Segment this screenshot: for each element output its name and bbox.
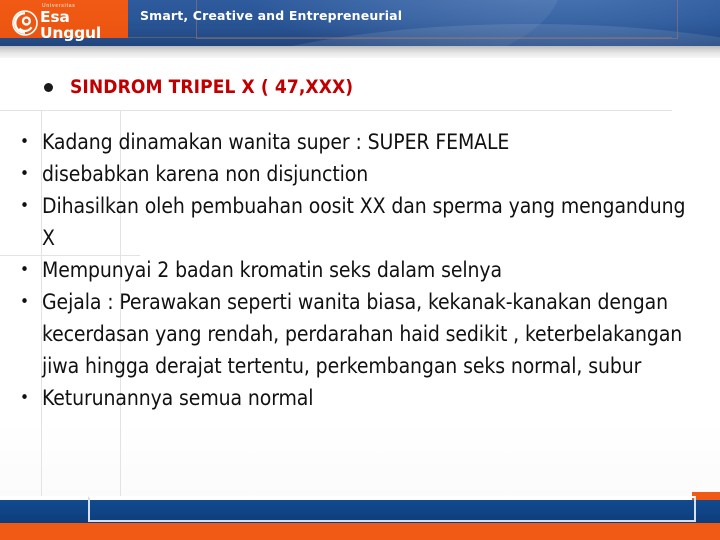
header-tagline: Smart, Creative and Entrepreneurial	[140, 8, 402, 23]
esa-unggul-logo-icon	[12, 10, 38, 36]
list-item-text: Kadang dinamakan wanita super : SUPER FE…	[42, 126, 696, 158]
bullet-glyph-icon: •	[20, 382, 42, 414]
university-logo-block: Universitas Esa Unggul	[0, 0, 128, 38]
list-item: • disebabkan karena non disjunction	[20, 158, 696, 190]
list-item-text: Keturunannya semua normal	[42, 382, 696, 414]
list-item: • Mempunyai 2 badan kromatin seks dalam …	[20, 254, 696, 286]
slide-bullet-list: • Kadang dinamakan wanita super : SUPER …	[20, 126, 696, 414]
list-item-text: Gejala : Perawakan seperti wanita biasa,…	[42, 286, 696, 382]
slide-title-row: SINDROM TRIPEL X ( 47,XXX)	[44, 72, 353, 102]
list-item: • Gejala : Perawakan seperti wanita bias…	[20, 286, 696, 382]
footer-blue-band	[0, 500, 720, 524]
header-gloss-strip	[0, 46, 720, 58]
slide-canvas: Universitas Esa Unggul Smart, Creative a…	[0, 0, 720, 540]
list-item-text: Dihasilkan oleh pembuahan oosit XX dan s…	[42, 190, 696, 254]
logo-inner: Universitas Esa Unggul	[12, 4, 128, 41]
list-item: • Dihasilkan oleh pembuahan oosit XX dan…	[20, 190, 696, 254]
logo-name: Esa Unggul	[40, 10, 128, 41]
bullet-glyph-icon: •	[20, 190, 42, 222]
bullet-glyph-icon: •	[20, 158, 42, 190]
logo-wordmark: Universitas Esa Unggul	[40, 4, 128, 41]
bullet-glyph-icon: •	[20, 254, 42, 286]
list-item: • Keturunannya semua normal	[20, 382, 696, 414]
list-item-text: Mempunyai 2 badan kromatin seks dalam se…	[42, 254, 696, 286]
list-item-text: disebabkan karena non disjunction	[42, 158, 696, 190]
footer-orange-band	[0, 523, 720, 540]
bullet-glyph-icon: •	[20, 126, 42, 158]
bullet-glyph-icon: •	[20, 286, 42, 318]
header-swoosh-decoration-secondary	[150, 24, 720, 46]
guide-line-horizontal-top	[0, 110, 672, 111]
bullet-dot-icon	[44, 83, 53, 92]
list-item: • Kadang dinamakan wanita super : SUPER …	[20, 126, 696, 158]
page-title: SINDROM TRIPEL X ( 47,XXX)	[70, 76, 353, 98]
